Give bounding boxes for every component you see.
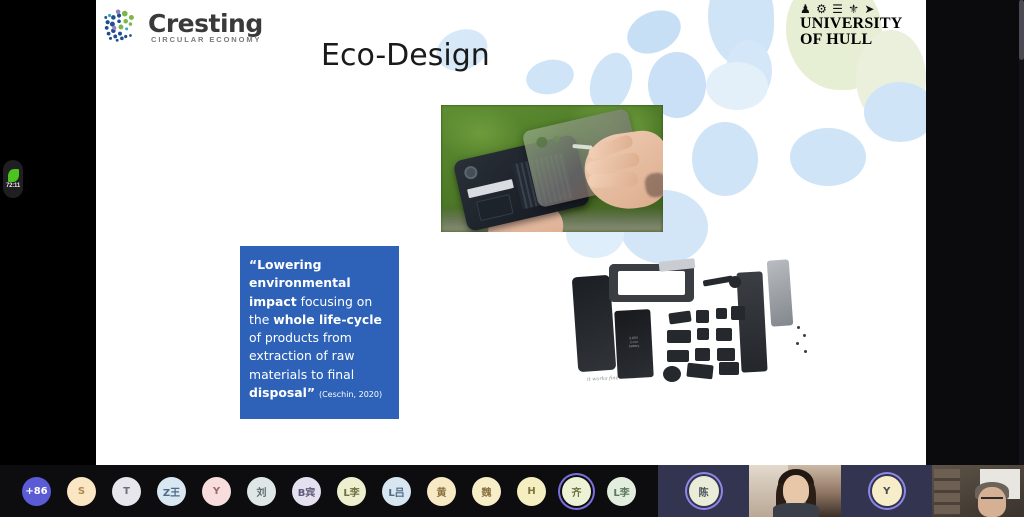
participant-5[interactable]: 刘 <box>239 465 284 517</box>
participant-6[interactable]: B宾 <box>284 465 329 517</box>
screw <box>796 342 799 345</box>
person-face <box>978 487 1006 517</box>
camera-module-icon <box>463 165 479 181</box>
participant-9[interactable]: 黄 <box>419 465 464 517</box>
avatar-speaking[interactable]: 陈 <box>689 476 719 506</box>
hull-name-line1: UNIVERSITY <box>800 16 920 32</box>
avatar[interactable]: L李 <box>337 477 366 506</box>
participant-7[interactable]: L李 <box>329 465 374 517</box>
teardown-part <box>716 308 727 319</box>
teardown-part <box>667 330 691 343</box>
cresting-wordmark: Cresting <box>148 9 263 38</box>
meeting-timer-label: 72:11 <box>6 183 20 189</box>
teardown-handwriting: it works fine <box>587 375 619 383</box>
page-title: Eco-Design <box>321 38 490 73</box>
teardown-part <box>695 348 710 361</box>
cresting-logo: Cresting CIRCULAR ECONOMY <box>101 5 266 47</box>
teardown-part <box>667 350 689 362</box>
phone-back-cover-photo <box>441 105 663 232</box>
teardown-metal-bracket <box>767 259 794 326</box>
decorative-blob <box>790 128 866 186</box>
video-tile-avatar-chen[interactable]: 陈 <box>658 465 750 517</box>
avatar[interactable]: S <box>67 477 96 506</box>
screw <box>803 334 806 337</box>
quote-citation: (Ceschin, 2020) <box>319 390 382 399</box>
teardown-battery: 3.85VLi-ionbattery <box>614 309 654 379</box>
avatar[interactable]: L李 <box>607 477 636 506</box>
participant-3[interactable]: Z王 <box>149 465 194 517</box>
participant-4[interactable]: Y <box>194 465 239 517</box>
avatar-speaking[interactable]: Y <box>872 476 902 506</box>
decorative-blob <box>523 55 577 98</box>
phone-chip <box>476 194 514 221</box>
decorative-blob <box>706 62 768 110</box>
teardown-part <box>668 311 691 325</box>
globe-dots-icon <box>101 7 139 45</box>
university-of-hull-logo: ♟ ⚙ ☰ ⚜ ➤ UNIVERSITY OF HULL <box>800 2 920 47</box>
overflow-count-avatar[interactable]: +86 <box>22 477 51 506</box>
left-rail: 72:11 <box>0 0 96 465</box>
avatar[interactable]: Y <box>202 477 231 506</box>
bookshelf <box>934 469 960 515</box>
battery-label: 3.85VLi-ionbattery <box>620 335 649 348</box>
teardown-logic-board <box>736 271 767 372</box>
avatar[interactable]: 魏 <box>472 477 501 506</box>
cover-camera-hole <box>535 136 548 149</box>
shared-slide[interactable]: Cresting CIRCULAR ECONOMY ♟ ⚙ ☰ ⚜ ➤ UNIV… <box>96 0 926 465</box>
person-face <box>783 475 809 505</box>
cover-sensor-hole <box>552 135 560 143</box>
meeting-timer-pill[interactable]: 72:11 <box>3 160 23 198</box>
avatar[interactable]: B宾 <box>292 477 321 506</box>
right-video-strip[interactable] <box>926 0 1024 465</box>
participant-bar: +86 S T Z王 Y 刘 B宾 L李 L吕 黄 魏 H 齐 L李 陈 <box>0 465 1024 517</box>
teardown-part <box>696 310 709 323</box>
decorative-blob <box>864 82 926 142</box>
avatar-speaking[interactable]: 齐 <box>562 477 591 506</box>
avatar-row: +86 S T Z王 Y 刘 B宾 L李 L吕 黄 魏 H 齐 L李 <box>0 465 644 517</box>
avatar[interactable]: L吕 <box>382 477 411 506</box>
avatar[interactable]: H <box>517 477 546 506</box>
teardown-part <box>716 328 732 341</box>
hull-crest-icons: ♟ ⚙ ☰ ⚜ ➤ <box>800 2 920 16</box>
teardown-part <box>717 348 735 361</box>
meeting-screen-share-window: 72:11 <box>0 0 1024 517</box>
glasses-icon <box>981 497 1003 502</box>
teardown-part <box>697 328 709 340</box>
teardown-speaker <box>729 276 741 288</box>
participant-13[interactable]: L李 <box>599 465 644 517</box>
avatar[interactable]: 黄 <box>427 477 456 506</box>
person-body <box>773 503 819 517</box>
screw <box>797 326 800 329</box>
screw <box>804 350 807 353</box>
teardown-part <box>731 306 745 320</box>
participant-2[interactable]: T <box>104 465 149 517</box>
video-tile-avatar-y[interactable]: Y <box>841 465 933 517</box>
video-tile-webcam-1[interactable] <box>749 465 841 517</box>
participant-11[interactable]: H <box>509 465 554 517</box>
scrollbar-thumb[interactable] <box>1019 0 1024 60</box>
leaf-icon <box>8 169 19 182</box>
participant-12[interactable]: 齐 <box>554 465 599 517</box>
video-strip-scrollbar[interactable] <box>1019 0 1024 465</box>
decorative-blob <box>692 122 758 196</box>
quote-text: “Lowering environmental impact focusing … <box>249 256 389 404</box>
teardown-part <box>663 366 681 382</box>
avatar[interactable]: 刘 <box>247 477 276 506</box>
hull-name-line2: OF HULL <box>800 32 920 48</box>
phone-teardown-photo: 3.85VLi-ionbattery it works fine <box>571 258 821 398</box>
participant-0[interactable]: +86 <box>14 465 59 517</box>
participant-10[interactable]: 魏 <box>464 465 509 517</box>
participant-1[interactable]: S <box>59 465 104 517</box>
cresting-tagline: CIRCULAR ECONOMY <box>151 35 261 44</box>
teardown-midframe <box>609 264 694 302</box>
tattoo <box>644 172 663 199</box>
avatar[interactable]: Z王 <box>157 477 186 506</box>
quote-callout-box: “Lowering environmental impact focusing … <box>240 246 399 419</box>
avatar[interactable]: T <box>112 477 141 506</box>
teardown-part <box>719 362 739 375</box>
teardown-part <box>686 363 713 380</box>
finger <box>588 172 639 189</box>
participant-8[interactable]: L吕 <box>374 465 419 517</box>
video-tile-self-webcam[interactable] <box>932 465 1024 517</box>
